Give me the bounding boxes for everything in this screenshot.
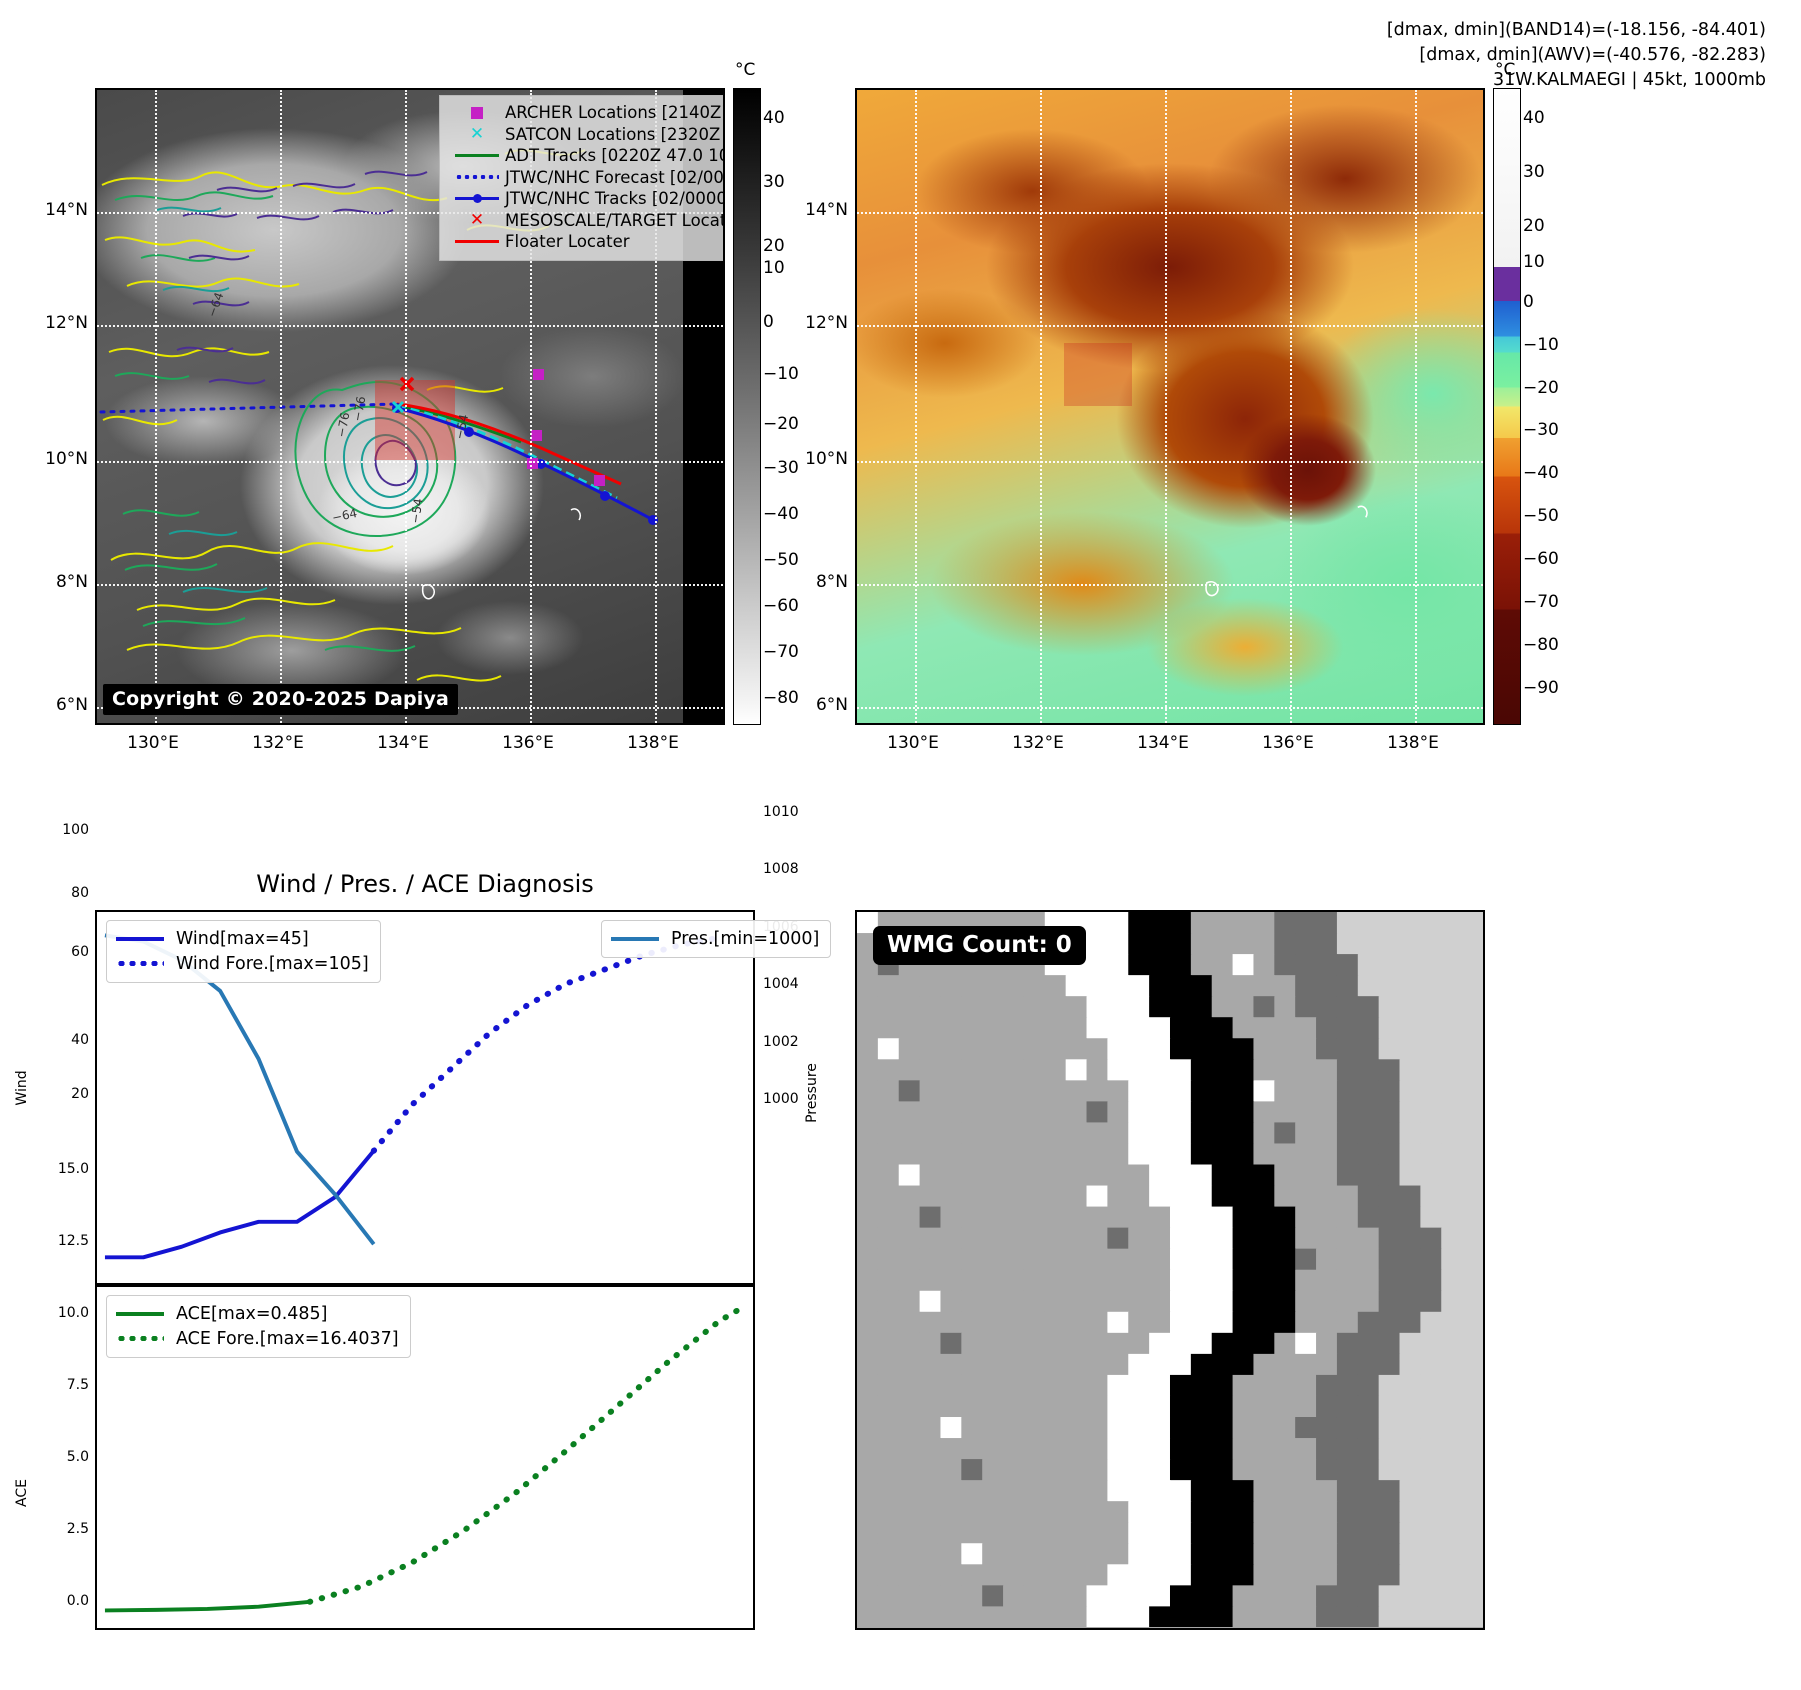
- wmg-cell: [1316, 1459, 1337, 1481]
- wmg-cell: [940, 1186, 961, 1208]
- wmg-cell: [1337, 1122, 1358, 1144]
- wmg-cell: [1253, 933, 1274, 955]
- wmg-cell: [1128, 1186, 1149, 1208]
- wmg-cell: [1149, 1017, 1170, 1039]
- wind-ytick-40: 40: [45, 1032, 89, 1048]
- wmg-cell: [1253, 1038, 1274, 1060]
- wmg-cell: [1170, 1396, 1191, 1418]
- wmg-cell: [878, 1606, 899, 1627]
- r-gridline-lat-10: [857, 461, 1483, 463]
- wmg-cell: [1024, 1038, 1045, 1060]
- wmg-cell: [982, 1543, 1003, 1565]
- wmg-cell: [1191, 933, 1212, 955]
- wmg-cell: [1128, 1543, 1149, 1565]
- wmg-cell: [878, 1059, 899, 1081]
- wmg-cell: [1441, 1249, 1462, 1271]
- wmg-cell: [1191, 912, 1212, 934]
- wmg-cell: [1087, 1207, 1108, 1229]
- wmg-cell: [1400, 1480, 1421, 1502]
- wmg-cell: [1212, 1059, 1233, 1081]
- wmg-cell: [857, 1333, 878, 1355]
- wmg-cell: [878, 1249, 899, 1271]
- wmg-cell: [1191, 1101, 1212, 1123]
- wmg-cell: [1170, 1438, 1191, 1460]
- right-map-xtick-130e: 130°E: [887, 733, 939, 753]
- wmg-cell: [1462, 1459, 1483, 1481]
- wmg-cell: [1149, 1207, 1170, 1229]
- wmg-cell: [1233, 1543, 1254, 1565]
- wmg-cell: [899, 1186, 920, 1208]
- wmg-cell: [1149, 1249, 1170, 1271]
- wmg-cell: [878, 1396, 899, 1418]
- wmg-cell: [1400, 1312, 1421, 1334]
- wind-ytick-20: 20: [45, 1086, 89, 1102]
- wmg-cell: [1400, 1543, 1421, 1565]
- wmg-cell: [1107, 1480, 1128, 1502]
- wmg-cell: [1337, 1480, 1358, 1502]
- wmg-cell: [878, 1522, 899, 1544]
- gridline-lon-132: [280, 90, 282, 723]
- wmg-cell: [1400, 1270, 1421, 1292]
- wind-ytick-100: 100: [39, 822, 89, 838]
- wmg-cell: [899, 1038, 920, 1060]
- wmg-cell: [1379, 1059, 1400, 1081]
- legend-label-floater: Floater Locater: [505, 232, 630, 251]
- wmg-cell: [1170, 954, 1191, 976]
- wmg-cell: [1149, 1122, 1170, 1144]
- wmg-cell: [1379, 1606, 1400, 1627]
- wmg-cell: [1107, 1312, 1128, 1334]
- wmg-cell: [878, 1186, 899, 1208]
- wmg-cell: [1233, 1080, 1254, 1102]
- left-cb-tick-m30: −30: [763, 458, 799, 478]
- r-gridline-lat-12: [857, 325, 1483, 327]
- wmg-cell: [961, 1249, 982, 1271]
- wmg-cell: [1233, 1396, 1254, 1418]
- wmg-cell: [982, 996, 1003, 1018]
- wmg-cell: [1295, 1396, 1316, 1418]
- wmg-cell: [1233, 975, 1254, 997]
- wmg-cell: [1316, 1080, 1337, 1102]
- wmg-cell: [961, 1564, 982, 1586]
- wmg-cell: [899, 1585, 920, 1607]
- wmg-cell: [1233, 1228, 1254, 1250]
- wmg-cell: [1379, 1543, 1400, 1565]
- wmg-cell: [1441, 1333, 1462, 1355]
- wmg-cell: [1233, 1101, 1254, 1123]
- legend-item-jtwc-tracks: JTWC/NHC Tracks [02/0000Z]: [449, 188, 725, 210]
- wmg-cell: [961, 1522, 982, 1544]
- blue-dotted-line-icon: [116, 961, 176, 966]
- wmg-cell: [1441, 1291, 1462, 1313]
- wmg-cell: [878, 1312, 899, 1334]
- wmg-cell: [1441, 954, 1462, 976]
- wmg-cell: [1253, 1207, 1274, 1229]
- ir-satellite-map[interactable]: −64 −76 −76 −64 −54 −54 Copyright © 2020…: [95, 88, 725, 725]
- wmg-cell: [1170, 1522, 1191, 1544]
- wmg-cell: [982, 1270, 1003, 1292]
- wmg-cell: [1337, 1375, 1358, 1397]
- wmg-cell: [1274, 1396, 1295, 1418]
- wmg-cell: [857, 996, 878, 1018]
- wmg-cell: [857, 1059, 878, 1081]
- wmg-cell: [1107, 1017, 1128, 1039]
- right-map-xtick-132e: 132°E: [1012, 733, 1064, 753]
- wmg-cell: [1379, 1186, 1400, 1208]
- wmg-cell: [982, 1291, 1003, 1313]
- wmg-cell: [1358, 1270, 1379, 1292]
- right-map-ytick-8n: 8°N: [806, 572, 848, 592]
- right-cb-tick-m10: −10: [1523, 335, 1559, 355]
- wmg-cell: [1149, 1228, 1170, 1250]
- wmg-cell: [1066, 1375, 1087, 1397]
- left-cb-tick-m60: −60: [763, 596, 799, 616]
- wmg-cell: [1358, 1396, 1379, 1418]
- wmg-cell: [1087, 1606, 1108, 1627]
- wmg-cell: [1358, 975, 1379, 997]
- wmg-cell: [1274, 1417, 1295, 1439]
- wmg-cell: [1358, 1564, 1379, 1586]
- wmg-cell: [940, 1564, 961, 1586]
- wmg-cell: [1358, 1375, 1379, 1397]
- wmg-cell: [1087, 975, 1108, 997]
- wmg-cell: [1400, 1101, 1421, 1123]
- wmg-cell: [940, 1333, 961, 1355]
- wmg-cell: [1066, 1417, 1087, 1439]
- wmg-cell: [1045, 1101, 1066, 1123]
- wmg-cell: [1420, 1165, 1441, 1187]
- wmg-cell: [1420, 1249, 1441, 1271]
- wmg-cell: [1212, 1522, 1233, 1544]
- wmg-cell: [857, 1564, 878, 1586]
- wmg-cell: [920, 1291, 941, 1313]
- wmg-cell: [1170, 1291, 1191, 1313]
- wmg-cell: [1420, 1375, 1441, 1397]
- wmg-cell: [961, 1143, 982, 1165]
- wmg-cell: [1003, 1501, 1024, 1523]
- wmg-cell: [1462, 1564, 1483, 1586]
- cyan-x-marker-icon: ✕: [449, 126, 505, 143]
- wmg-cell: [1462, 1375, 1483, 1397]
- wmg-cell: [1107, 1333, 1128, 1355]
- wmg-cell: [1400, 1354, 1421, 1376]
- left-colorbar-unit: °C: [735, 60, 755, 80]
- map-legend: ARCHER Locations [2140Z] ✕ SATCON Locati…: [439, 95, 725, 261]
- wmg-cell: [940, 1396, 961, 1418]
- wmg-cell: [1337, 1080, 1358, 1102]
- wmg-cell: [1253, 1501, 1274, 1523]
- wmg-cell: [1066, 1459, 1087, 1481]
- wmg-cell: [1233, 1270, 1254, 1292]
- wmg-cell: [1149, 1059, 1170, 1081]
- wmg-cell: [1170, 1270, 1191, 1292]
- wmg-cell: [1379, 933, 1400, 955]
- wmg-cell: [1128, 1291, 1149, 1313]
- wmg-cell: [1149, 1585, 1170, 1607]
- wmg-cell: [982, 1438, 1003, 1460]
- wmg-cell: [1170, 1080, 1191, 1102]
- wmg-cell: [1087, 1438, 1108, 1460]
- wmg-cell: [899, 1101, 920, 1123]
- wmg-cell: [1233, 1333, 1254, 1355]
- wmg-cell: [1128, 1375, 1149, 1397]
- wmg-cell: [1128, 1059, 1149, 1081]
- ace-ytick-2_5: 2.5: [33, 1521, 89, 1537]
- wmg-cell: [1295, 1522, 1316, 1544]
- wmg-cell: [878, 1165, 899, 1187]
- wmg-cell: [1295, 1038, 1316, 1060]
- wmg-cell: [1274, 1459, 1295, 1481]
- wmg-cell: [1274, 1375, 1295, 1397]
- wmg-cell: [1400, 1207, 1421, 1229]
- blue-solid-line-icon: [116, 937, 176, 941]
- wmg-cell: [1045, 1165, 1066, 1187]
- wmg-cell: [1045, 1059, 1066, 1081]
- wmg-cell: [1420, 1417, 1441, 1439]
- wmg-cell: [1149, 1080, 1170, 1102]
- left-map-xtick-136e: 136°E: [502, 733, 554, 753]
- wmg-cell: [1295, 996, 1316, 1018]
- r-gridline-lon-130: [915, 90, 917, 723]
- wmg-cell: [1212, 954, 1233, 976]
- wmg-cell: [1191, 1375, 1212, 1397]
- wmg-cell: [1420, 1543, 1441, 1565]
- wmg-cell: [1379, 1270, 1400, 1292]
- wmg-cell: [940, 1249, 961, 1271]
- wmg-cell: [878, 1417, 899, 1439]
- wmg-cell: [1316, 1017, 1337, 1039]
- legend-label-wind: Wind[max=45]: [176, 929, 309, 949]
- wmg-cell: [1212, 1543, 1233, 1565]
- wmg-cell: [1253, 1101, 1274, 1123]
- wmg-cell: [1462, 1122, 1483, 1144]
- wmg-cell: [899, 1501, 920, 1523]
- wmg-cell: [1170, 1249, 1191, 1271]
- wmg-cell: [1066, 1585, 1087, 1607]
- wmg-cell: [1274, 954, 1295, 976]
- wmg-cell: [899, 1143, 920, 1165]
- gridline-lon-134: [405, 90, 407, 723]
- wmg-cell: [899, 975, 920, 997]
- wmg-cell: [1149, 1291, 1170, 1313]
- wmg-cell: [1274, 1059, 1295, 1081]
- wmg-cell: [1087, 1543, 1108, 1565]
- wmg-cell: [1274, 1186, 1295, 1208]
- wmg-cell: [878, 1585, 899, 1607]
- wmg-cell: [878, 1038, 899, 1060]
- left-map-ytick-8n: 8°N: [46, 572, 88, 592]
- wmg-cell: [1003, 1143, 1024, 1165]
- wmg-cell: [1128, 1606, 1149, 1627]
- wmg-cell: [1024, 1080, 1045, 1102]
- wmg-cell: [1400, 1165, 1421, 1187]
- wmg-cell: [1003, 1080, 1024, 1102]
- series-wind-max----: [105, 1151, 374, 1258]
- wmg-cell: [1316, 1038, 1337, 1060]
- wmg-cell: [1128, 1270, 1149, 1292]
- wmg-cell: [920, 1543, 941, 1565]
- wmg-cell: [1149, 1543, 1170, 1565]
- left-map-xtick-138e: 138°E: [627, 733, 679, 753]
- wmg-cell: [1212, 1438, 1233, 1460]
- wmg-cell: [1128, 1249, 1149, 1271]
- wmg-cell: [982, 1333, 1003, 1355]
- wmg-cell: [1149, 1354, 1170, 1376]
- wmg-cell: [1274, 1038, 1295, 1060]
- wmg-cell: [1358, 1585, 1379, 1607]
- wmg-cell: [1045, 1080, 1066, 1102]
- wmg-cell: [1024, 1543, 1045, 1565]
- wmg-cell: [1233, 1564, 1254, 1586]
- wmg-cell: [1128, 1480, 1149, 1502]
- wmg-cell: [1274, 1606, 1295, 1627]
- wmg-cell: [1233, 1375, 1254, 1397]
- wmg-cell: [1212, 1606, 1233, 1627]
- wmg-cell: [961, 1017, 982, 1039]
- wmg-cell: [1379, 1312, 1400, 1334]
- wmg-cell: [1107, 1122, 1128, 1144]
- wmg-cell: [878, 1543, 899, 1565]
- right-cb-tick-m70: −70: [1523, 592, 1559, 612]
- wmg-cell: [1295, 975, 1316, 997]
- ace-ytick-5: 5.0: [33, 1449, 89, 1465]
- r-gridline-lon-138: [1415, 90, 1417, 723]
- svg-text:−76: −76: [350, 395, 368, 422]
- wmg-cell: [1149, 1143, 1170, 1165]
- wmg-cell: [961, 1080, 982, 1102]
- wmg-cell: [1253, 1375, 1274, 1397]
- wmg-cell: [1003, 1417, 1024, 1439]
- wmg-cell: [1024, 1417, 1045, 1439]
- wmg-cell: [1045, 1417, 1066, 1439]
- wmg-cell: [1107, 1186, 1128, 1208]
- wmg-cell: [878, 1270, 899, 1292]
- wmg-cell: [1253, 1122, 1274, 1144]
- wmg-cell: [1233, 1417, 1254, 1439]
- wmg-cell: [1316, 1564, 1337, 1586]
- wmg-cell: [920, 1059, 941, 1081]
- wmg-cell: [1066, 1543, 1087, 1565]
- wmg-cell: [1441, 1543, 1462, 1565]
- wmg-cell: [1379, 1333, 1400, 1355]
- wmg-cell: [1024, 1291, 1045, 1313]
- wmg-cell: [899, 1249, 920, 1271]
- wmg-cell: [1045, 1480, 1066, 1502]
- wmg-cell: [1066, 1186, 1087, 1208]
- wmg-cell: [1274, 1249, 1295, 1271]
- wmg-cell: [1295, 1354, 1316, 1376]
- wmg-cell: [899, 1017, 920, 1039]
- wmg-cell: [1003, 1354, 1024, 1376]
- wmg-cell: [1066, 1122, 1087, 1144]
- wmg-cell: [1462, 1080, 1483, 1102]
- wmg-cell: [1087, 954, 1108, 976]
- wmg-cell: [1337, 1270, 1358, 1292]
- wmg-cell: [1128, 1207, 1149, 1229]
- wmg-cell: [920, 1122, 941, 1144]
- wmg-cell: [940, 1438, 961, 1460]
- wmg-cell: [857, 1017, 878, 1039]
- wmg-cell: [1462, 1207, 1483, 1229]
- wmg-cell: [1087, 1165, 1108, 1187]
- wmg-cell: [1420, 1312, 1441, 1334]
- right-cb-tick-m30: −30: [1523, 420, 1559, 440]
- wmg-cell: [899, 1122, 920, 1144]
- wmg-cell: [1003, 1459, 1024, 1481]
- wmg-cell: [1045, 1606, 1066, 1627]
- wmg-cell: [1149, 912, 1170, 934]
- wmg-cell: [1066, 1396, 1087, 1418]
- wmg-cell: [940, 1312, 961, 1334]
- ace-ytick-15: 15.0: [27, 1161, 89, 1177]
- wmg-cell: [1462, 1291, 1483, 1313]
- wmg-cell: [1379, 1438, 1400, 1460]
- wmg-cell: [899, 1165, 920, 1187]
- wmg-cell: [961, 1101, 982, 1123]
- wmg-cell: [1128, 1228, 1149, 1250]
- left-cb-tick-m20: −20: [763, 414, 799, 434]
- wmg-cell: [1420, 1207, 1441, 1229]
- wmg-cell: [982, 1459, 1003, 1481]
- wmg-cell: [1066, 996, 1087, 1018]
- wmg-cell: [1358, 1228, 1379, 1250]
- wmg-cell: [899, 1459, 920, 1481]
- wmg-cell: [982, 975, 1003, 997]
- wmg-cell: [940, 1291, 961, 1313]
- wmg-cell: [1212, 1312, 1233, 1334]
- wmg-cell: [1233, 1354, 1254, 1376]
- wmg-cell: [1400, 1501, 1421, 1523]
- wmg-cell: [1316, 1585, 1337, 1607]
- wmg-cell: [1316, 1354, 1337, 1376]
- wmg-cell: [1066, 1038, 1087, 1060]
- stats-awv: [dmax, dmin](AWV)=(-40.576, -82.283): [1387, 43, 1766, 68]
- wmg-cell: [1379, 1459, 1400, 1481]
- wmg-cell: [961, 1543, 982, 1565]
- awv-enhanced-map[interactable]: [855, 88, 1485, 725]
- wmg-cell: [1441, 1186, 1462, 1208]
- wmg-cell: [1400, 996, 1421, 1018]
- wmg-cell: [1253, 1270, 1274, 1292]
- wmg-cell: [857, 1038, 878, 1060]
- wmg-cell: [1107, 1291, 1128, 1313]
- red-solid-line-icon: [449, 240, 505, 243]
- wmg-cell: [940, 1165, 961, 1187]
- wmg-cell: [1024, 1333, 1045, 1355]
- wmg-cell: [878, 1080, 899, 1102]
- wmg-cell: [1107, 1459, 1128, 1481]
- wmg-cell: [940, 1038, 961, 1060]
- wmg-cell: [1441, 1354, 1462, 1376]
- wmg-cell: [1420, 1333, 1441, 1355]
- wmg-cell: [940, 975, 961, 997]
- wmg-cell: [961, 1122, 982, 1144]
- wmg-cell: [1003, 1522, 1024, 1544]
- wmg-cell: [857, 1396, 878, 1418]
- wmg-cell: [1107, 975, 1128, 997]
- legend-label-pressure: Pres.[min=1000]: [671, 929, 819, 949]
- wmg-classification-map[interactable]: WMG Count: 0: [855, 910, 1485, 1630]
- wmg-cell: [1087, 1122, 1108, 1144]
- wmg-cell: [1024, 1312, 1045, 1334]
- wmg-cell: [1441, 1459, 1462, 1481]
- wmg-cell: [1128, 912, 1149, 934]
- green-dotted-line-icon: [116, 1336, 176, 1341]
- wmg-cell: [1045, 1501, 1066, 1523]
- wmg-cell: [1379, 912, 1400, 934]
- pressure-axis-label: Pressure: [804, 1063, 820, 1123]
- right-colorbar-unit: °C: [1495, 60, 1515, 80]
